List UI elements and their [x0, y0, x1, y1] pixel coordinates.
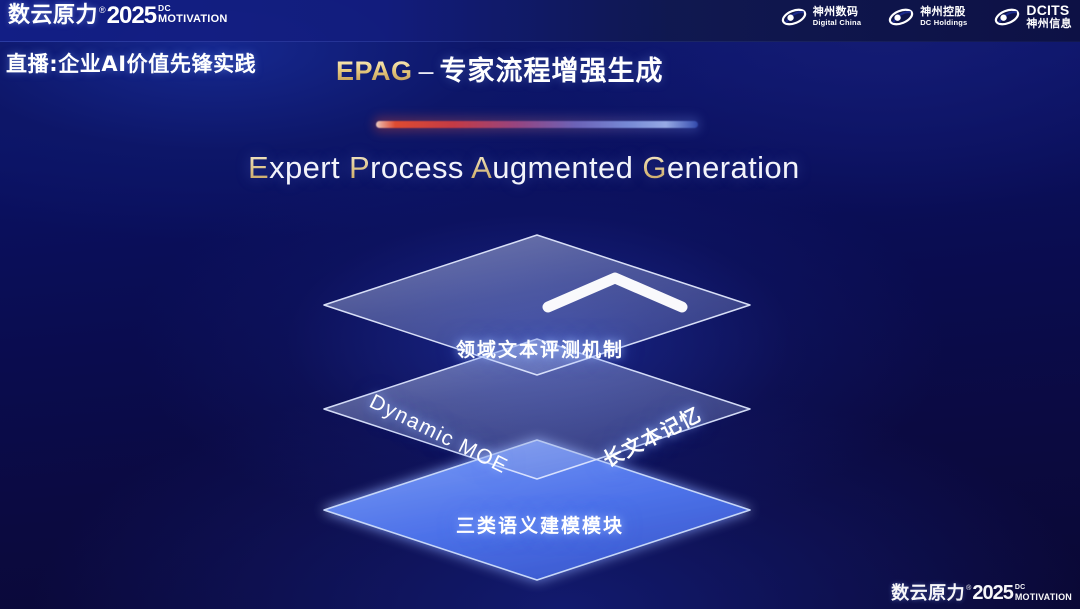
subtitle-cap: P: [349, 150, 370, 185]
title-chinese: 专家流程增强生成: [440, 56, 664, 87]
subtitle-word-generation: Generation: [642, 150, 799, 185]
corner-watermark: 数云原力 ® 2025 DC MOTIVATION: [891, 582, 1072, 605]
logo-name-cn: 神州控股: [920, 6, 967, 18]
diagram-layer-top[interactable]: 领域文本评测机制: [280, 222, 800, 592]
gradient-divider: [376, 121, 698, 128]
brand-dc-line1: DC: [158, 4, 227, 13]
subtitle-cap: A: [471, 150, 492, 185]
subtitle: Expert Process Augmented Generation: [248, 150, 800, 186]
brand-dc-motivation: DC MOTIVATION: [158, 2, 227, 25]
slide-canvas: 数云原力 ® 2025 DC MOTIVATION 直播:企业AI价值先锋实践 …: [0, 0, 1080, 609]
partner-logo-group: 神州数码 Digital China 神州控股 DC Holdings: [780, 3, 1072, 30]
logo-name-en: DCITS: [1026, 3, 1072, 18]
brand-dc-line2: MOTIVATION: [158, 13, 227, 25]
subtitle-cap: G: [642, 150, 667, 185]
brand-year: 2025: [107, 2, 156, 30]
subtitle-rest: eneration: [667, 150, 800, 185]
logo-text: 神州数码 Digital China: [813, 6, 861, 27]
swoosh-icon: [887, 6, 915, 28]
watermark-name-cn: 数云原力: [891, 582, 965, 605]
watermark-registered-mark: ®: [966, 583, 971, 594]
subtitle-word-augmented: Augmented: [471, 150, 633, 185]
subtitle-word-process: Process: [349, 150, 464, 185]
logo-name-cn: 神州数码: [813, 6, 861, 18]
layer-stack-diagram: 三类语义建模模块 Dynamic MOE 长文本记忆: [280, 222, 800, 592]
subtitle-word-expert: Expert: [248, 150, 340, 185]
subtitle-rest: rocess: [370, 150, 464, 185]
title-dash: –: [413, 56, 440, 86]
title-acronym: EPAG: [336, 56, 413, 86]
layer-label-top: 领域文本评测机制: [456, 335, 624, 362]
logo-name-en: DC Holdings: [920, 18, 967, 27]
logo-dc-holdings: 神州控股 DC Holdings: [887, 6, 967, 28]
logo-dcits: DCITS 神州信息: [993, 3, 1072, 30]
subtitle-cap: E: [248, 150, 269, 185]
logo-name-cn: 神州信息: [1026, 18, 1072, 30]
watermark-year: 2025: [972, 582, 1013, 605]
registered-mark: ®: [99, 3, 106, 17]
watermark-dc-motivation: DC MOTIVATION: [1015, 582, 1072, 602]
swoosh-icon: [780, 6, 808, 28]
subtitle-rest: ugmented: [492, 150, 633, 185]
brand-lockup: 数云原力 ® 2025 DC MOTIVATION: [8, 2, 227, 32]
logo-digital-china: 神州数码 Digital China: [780, 6, 861, 28]
watermark-dc-line2: MOTIVATION: [1015, 592, 1072, 602]
logo-text: 神州控股 DC Holdings: [920, 6, 967, 27]
swoosh-icon: [993, 6, 1021, 28]
logo-text: DCITS 神州信息: [1026, 3, 1072, 30]
watermark-dc-line1: DC: [1015, 584, 1072, 592]
subtitle-rest: xpert: [269, 150, 340, 185]
logo-name-en: Digital China: [813, 18, 861, 27]
live-stream-title: 直播:企业AI价值先锋实践: [6, 48, 256, 78]
page-title: EPAG–专家流程增强生成: [336, 54, 664, 89]
brand-name-cn: 数云原力: [8, 2, 98, 30]
